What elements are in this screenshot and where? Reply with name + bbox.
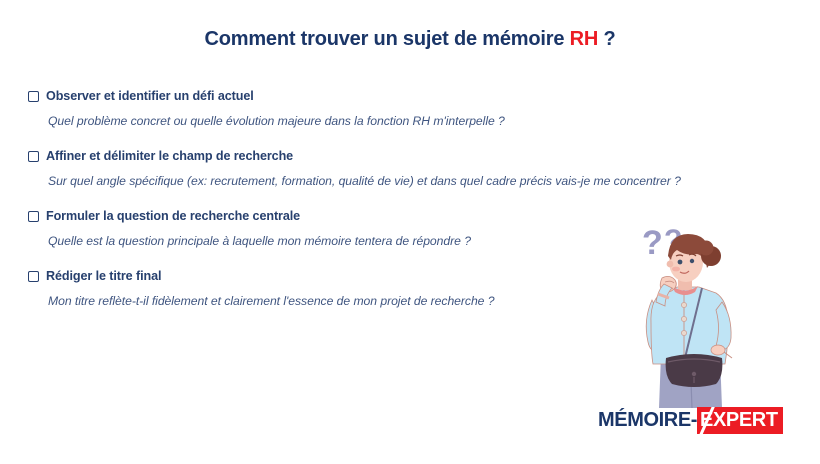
list-item-title: Affiner et délimiter le champ de recherc… xyxy=(46,148,293,164)
checkbox-icon[interactable] xyxy=(28,211,39,222)
checkbox-icon[interactable] xyxy=(28,91,39,102)
infographic-page: Comment trouver un sujet de mémoire RH ?… xyxy=(0,0,820,464)
list-item-title: Rédiger le titre final xyxy=(46,268,161,284)
thinking-woman-illustration: ? ? ? xyxy=(612,222,790,408)
list-item-head[interactable]: Observer et identifier un défi actuel xyxy=(28,88,788,104)
page-title-highlight: RH xyxy=(570,28,599,50)
logo-text-memoire: MÉMOIRE- xyxy=(598,410,697,430)
page-title: Comment trouver un sujet de mémoire RH ? xyxy=(0,28,820,51)
checkbox-icon[interactable] xyxy=(28,151,39,162)
list-item-title: Formuler la question de recherche centra… xyxy=(46,208,300,224)
list-item-description: Quel problème concret ou quelle évolutio… xyxy=(48,113,788,129)
logo-text-expert: EXPERT xyxy=(700,409,778,431)
brand-logo: MÉMOIRE- EXPERT xyxy=(598,406,783,434)
svg-text:?: ? xyxy=(642,224,663,262)
list-item[interactable]: Observer et identifier un défi actuel Qu… xyxy=(28,88,788,129)
logo-badge-expert: EXPERT xyxy=(697,407,783,434)
checkbox-icon[interactable] xyxy=(28,271,39,282)
page-title-after: ? xyxy=(598,28,615,50)
list-item-title: Observer et identifier un défi actuel xyxy=(46,88,254,104)
list-item-head[interactable]: Affiner et délimiter le champ de recherc… xyxy=(28,148,788,164)
list-item[interactable]: Affiner et délimiter le champ de recherc… xyxy=(28,148,788,189)
page-title-wrap: Comment trouver un sujet de mémoire RH ? xyxy=(0,28,820,51)
list-item-description: Sur quel angle spécifique (ex: recruteme… xyxy=(48,173,788,189)
page-title-before: Comment trouver un sujet de mémoire xyxy=(205,28,570,50)
